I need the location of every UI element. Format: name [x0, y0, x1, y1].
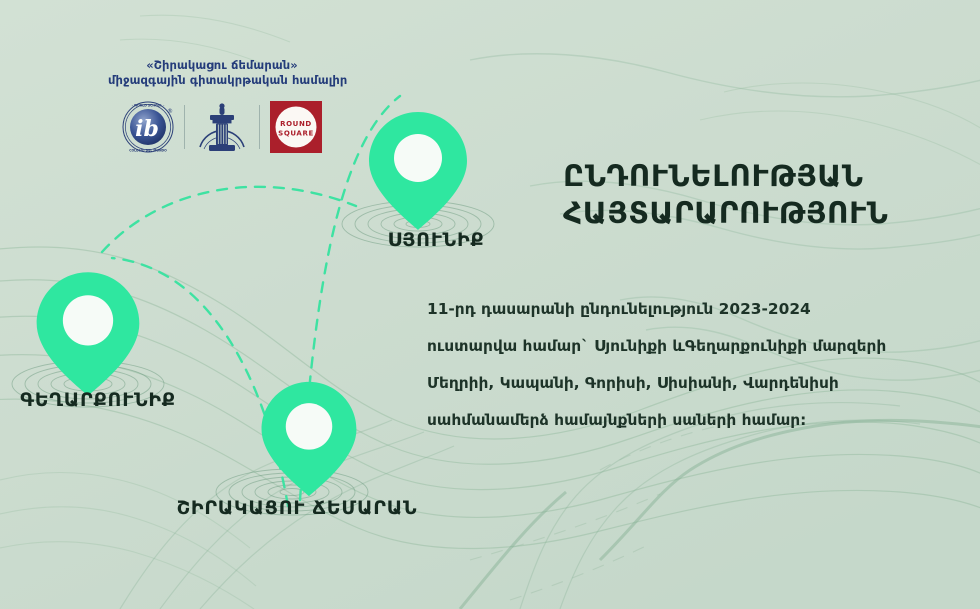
- school-branding: «Շիրակացու ճեմարան» միջազգային գիտակրթակ…: [108, 58, 336, 158]
- map-pin-syunik: [355, 108, 481, 238]
- page-title-line-2: ՀԱՅՏԱՐԱՐՈՒԹՅՈՒՆ: [563, 195, 963, 232]
- svg-text:ib: ib: [135, 116, 159, 142]
- announcement-body: 11-րդ դասարանի ընդունելություն 2023-2024…: [427, 291, 932, 439]
- svg-text:SQUARE: SQUARE: [278, 130, 314, 138]
- location-pin-icon: [22, 268, 154, 400]
- column-emblem-logo: [195, 99, 249, 155]
- map-pin-label-gegharkunik: ԳԵՂԱՐՔՈՒՆԻՔ: [0, 389, 198, 411]
- map-pin-label-shirakatsy: ՇԻՐԱԿԱՑՈՒ ՃԵՄԱՐԱՆ: [167, 497, 427, 519]
- admission-announcement-poster: «Շիրակացու ճեմարան» միջազգային գիտակրթակ…: [0, 0, 980, 609]
- round-square-logo: ROUND SQUARE: [270, 101, 322, 153]
- ib-world-school-logo: · WORLD SCHOOL · COLEGIO DEL MUNDO ib ®: [122, 101, 174, 153]
- svg-text:®: ®: [167, 108, 173, 115]
- svg-text:ROUND: ROUND: [280, 120, 312, 128]
- logo-divider-1: [184, 105, 185, 149]
- location-pin-icon: [248, 378, 370, 500]
- location-pin-icon: [355, 108, 481, 234]
- page-title-line-1: ԸՆԴՈՒՆԵԼՈՒԹՅԱՆ: [563, 158, 963, 195]
- accreditation-logo-row: · WORLD SCHOOL · COLEGIO DEL MUNDO ib ®: [108, 96, 336, 158]
- school-name-line-2: միջազգային գիտակրթական համալիր: [108, 73, 336, 88]
- svg-text:COLEGIO DEL MUNDO: COLEGIO DEL MUNDO: [129, 148, 167, 152]
- map-pin-shirakatsy: [248, 378, 370, 504]
- map-pin-gegharkunik: [22, 268, 154, 404]
- page-title: ԸՆԴՈՒՆԵԼՈՒԹՅԱՆ ՀԱՅՏԱՐԱՐՈՒԹՅՈՒՆ: [563, 158, 963, 232]
- map-pin-label-syunik: ՍՅՈՒՆԻՔ: [336, 229, 536, 251]
- route-gegharkunik-to-syunik: [102, 187, 356, 252]
- announcement-body-line-4: սահմանամերձ համայնքների սաների համար:: [427, 402, 932, 439]
- logo-divider-2: [259, 105, 260, 149]
- svg-text:· WORLD SCHOOL ·: · WORLD SCHOOL ·: [132, 104, 165, 108]
- announcement-body-line-1: 11-րդ դասարանի ընդունելություն 2023-2024: [427, 291, 932, 328]
- announcement-body-line-2: ուստարվա համար` Սյունիքի ևԳեղարքունիքի մ…: [427, 328, 932, 365]
- announcement-body-line-3: Մեղրիի, Կապանի, Գորիսի, Սիսիանի, Վարդենի…: [427, 365, 932, 402]
- school-name-line-1: «Շիրակացու ճեմարան»: [108, 58, 336, 73]
